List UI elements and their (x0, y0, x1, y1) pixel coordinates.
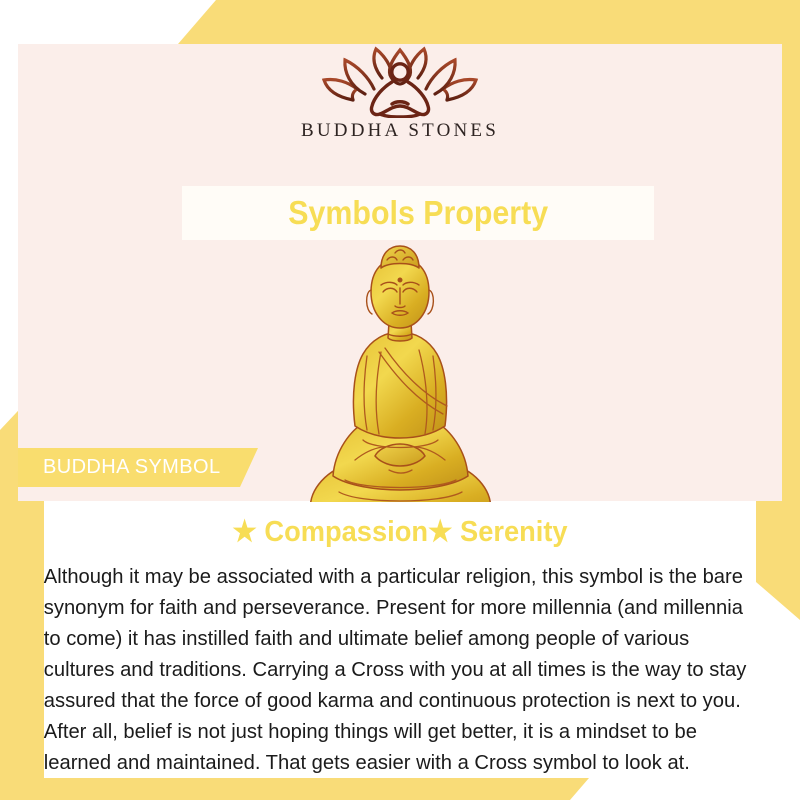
brand-logo: BUDDHA STONES (18, 44, 782, 150)
title-banner: Symbols Property (182, 186, 654, 240)
frame-top-accent (0, 0, 800, 44)
section-body-text: Although it may be associated with a par… (28, 549, 755, 778)
buddha-symbol-tag: BUDDHA SYMBOL (18, 448, 258, 487)
page-title: Symbols Property (288, 194, 548, 232)
lotus-meditation-icon (312, 44, 488, 118)
buddha-symbol-tag-label: BUDDHA SYMBOL (43, 456, 220, 479)
content-section: ★ Compassion★ Serenity Although it may b… (44, 502, 756, 778)
seated-buddha-statue-icon (293, 244, 508, 536)
poster-root: BUDDHA STONES Symbols Property (0, 0, 800, 800)
brand-name: BUDDHA STONES (301, 120, 499, 142)
buddha-statue-image (18, 244, 782, 539)
section-subheading: ★ Compassion★ Serenity (65, 502, 734, 549)
hero-panel: BUDDHA STONES Symbols Property (18, 44, 782, 501)
